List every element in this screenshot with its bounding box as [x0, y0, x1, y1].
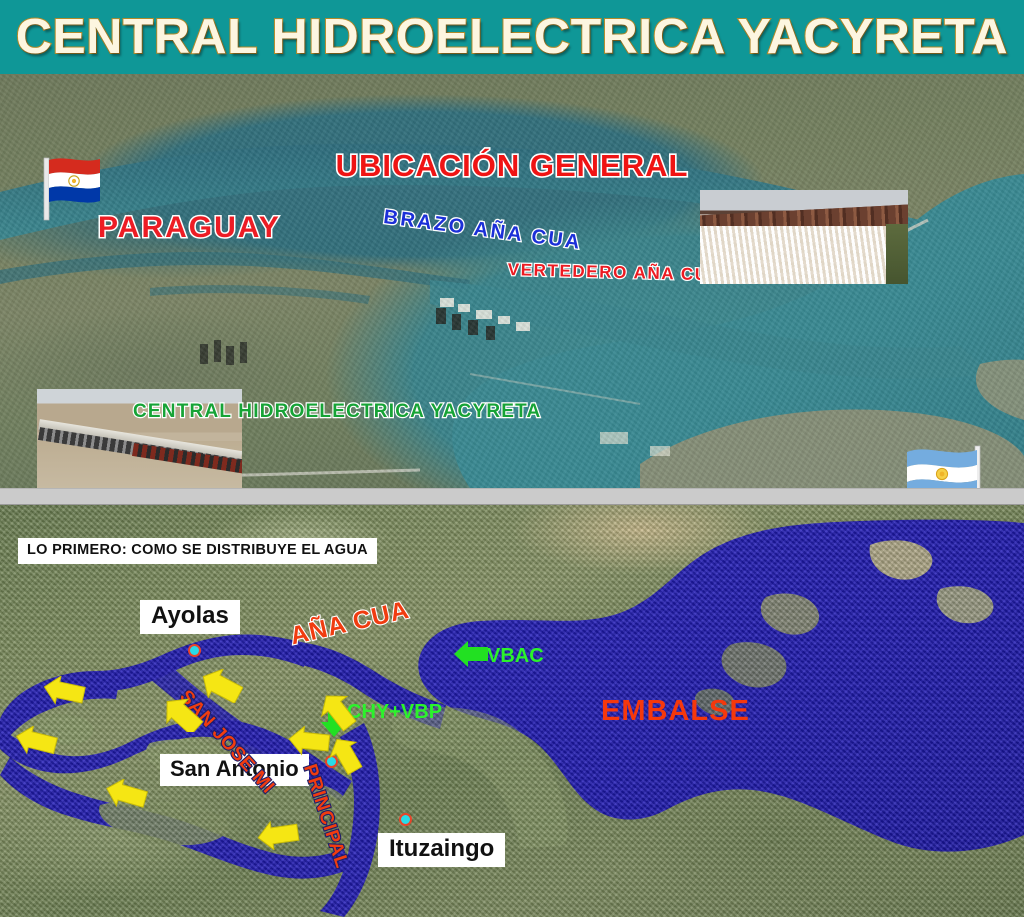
feature-label-central-hidroelectrica-yacyreta: CENTRAL HIDROELECTRICA YACYRETA: [133, 402, 541, 421]
argentina-flag: [893, 442, 993, 488]
city-label-ayolas: Ayolas: [140, 600, 240, 634]
vertedero-ana-cua-photo: [700, 190, 908, 284]
spillway-foam: [700, 226, 908, 284]
water-body-label-embalse: EMBALSE: [601, 697, 750, 726]
bottom-map-water-layer: [0, 505, 1024, 917]
city-dot-san-antonio: [325, 755, 338, 768]
discharge-label-chy-vbp: CHY+VBP: [347, 702, 442, 722]
panel-divider: [0, 488, 1024, 505]
paraguay-flag: [38, 152, 128, 222]
spillway-riverbank: [886, 224, 908, 284]
poster-page: CENTRAL HIDROELECTRICA YACYRETA: [0, 0, 1024, 917]
city-dot-ituzaingo: [399, 813, 412, 826]
city-label-ituzaingo: Ituzaingo: [378, 833, 505, 867]
top-map-panel: UBICACIÓN GENERAL PARAGUAY BRAZO AÑA CUA…: [0, 74, 1024, 488]
city-dot-ayolas: [188, 644, 201, 657]
section-title-ubicacion-general: UBICACIÓN GENERAL: [0, 150, 1024, 181]
caption-lo-primero: LO PRIMERO: COMO SE DISTRIBUYE EL AGUA: [18, 538, 377, 564]
page-title: CENTRAL HIDROELECTRICA YACYRETA: [0, 4, 1024, 70]
bottom-map-panel: [0, 505, 1024, 917]
discharge-label-vbac: VBAC: [487, 646, 544, 666]
poster-header: CENTRAL HIDROELECTRICA YACYRETA: [0, 0, 1024, 74]
